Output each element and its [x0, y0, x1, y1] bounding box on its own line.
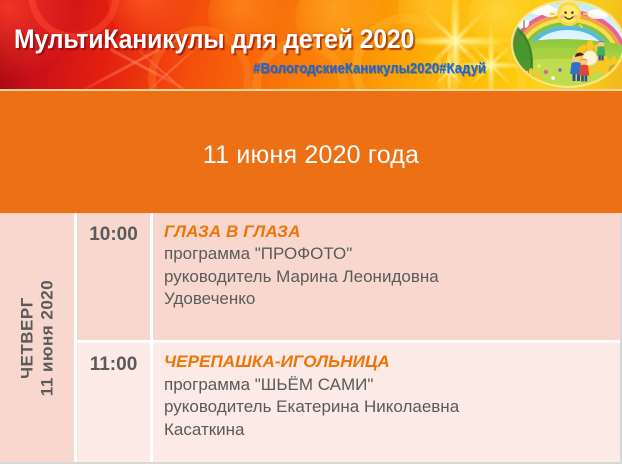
event-leader-line2: Касаткина: [164, 419, 612, 442]
event-title: ГЛАЗА В ГЛАЗА: [164, 221, 612, 242]
event-leader-line1: руководитель Екатерина Николаевна: [164, 396, 612, 419]
schedule-table: ЧЕТВЕРГ 11 июня 2020 10:00 ГЛАЗА В ГЛАЗА…: [0, 213, 622, 464]
event-program: программа "ПРОФОТО": [164, 243, 612, 266]
event-leader-line1: руководитель Марина Леонидовна: [164, 266, 612, 289]
header-banner: МультиКаникулы для детей 2020 #Вологодск…: [0, 0, 622, 91]
page-title: МультиКаникулы для детей 2020: [14, 24, 414, 55]
banner-hashtag: #ВологодскиеКаникулы2020#Кадуй: [253, 60, 486, 77]
date-block: 11 июня 2020 года: [0, 91, 622, 213]
poster-page: МультиКаникулы для детей 2020 #Вологодск…: [0, 0, 622, 464]
event-title: ЧЕРЕПАШКА-ИГОЛЬНИЦА: [164, 351, 612, 372]
day-name-label: ЧЕТВЕРГ: [17, 279, 37, 395]
day-column: ЧЕТВЕРГ 11 июня 2020: [0, 213, 74, 462]
event-leader-line2: Удовеченко: [164, 288, 612, 311]
day-date-label: 11 июня 2020: [37, 279, 57, 395]
event-details: ЧЕРЕПАШКА-ИГОЛЬНИЦА программа "ШЬЁМ САМИ…: [150, 343, 620, 462]
date-heading: 11 июня 2020 года: [0, 141, 622, 170]
event-time: 11:00: [74, 343, 150, 462]
table-row: 11:00 ЧЕРЕПАШКА-ИГОЛЬНИЦА программа "ШЬЁ…: [74, 340, 620, 462]
event-program: программа "ШЬЁМ САМИ": [164, 374, 612, 397]
summer-children-illustration: [498, 0, 622, 89]
event-details: ГЛАЗА В ГЛАЗА программа "ПРОФОТО" руково…: [150, 213, 620, 340]
schedule-rows: 10:00 ГЛАЗА В ГЛАЗА программа "ПРОФОТО" …: [74, 213, 620, 462]
event-time: 10:00: [74, 213, 150, 340]
table-row: 10:00 ГЛАЗА В ГЛАЗА программа "ПРОФОТО" …: [74, 213, 620, 340]
